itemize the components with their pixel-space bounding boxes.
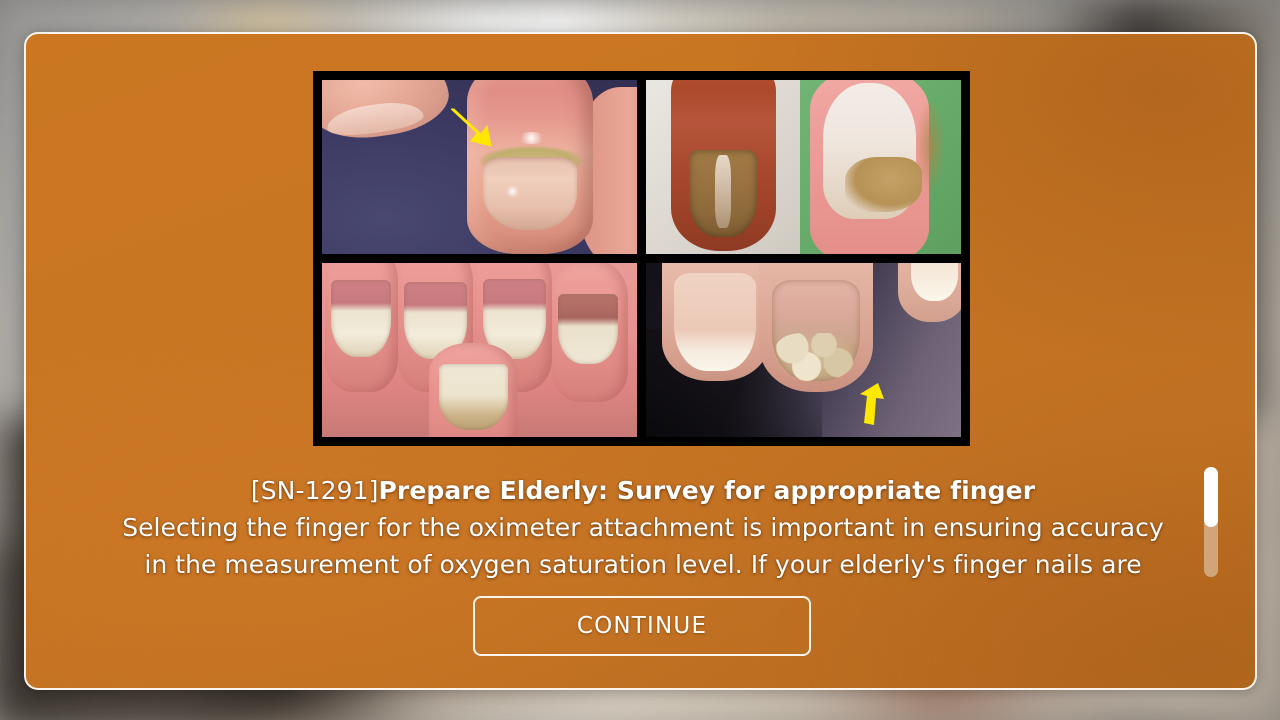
arrow-icon — [451, 104, 503, 148]
caption-scrollbar-thumb[interactable] — [1204, 467, 1218, 527]
nail-examples-image-grid — [313, 71, 970, 446]
caption-body-line-1: Selecting the finger for the oximeter at… — [104, 509, 1182, 546]
arrow-icon — [854, 381, 888, 427]
nail-example-image-top-left — [322, 80, 637, 254]
nail-example-image-bottom-left — [322, 263, 637, 437]
instruction-dialog-panel: [SN-1291]Prepare Elderly: Survey for app… — [24, 32, 1257, 690]
instruction-caption: [SN-1291]Prepare Elderly: Survey for app… — [104, 472, 1182, 582]
caption-scrollbar[interactable] — [1204, 467, 1218, 577]
caption-title-line: [SN-1291]Prepare Elderly: Survey for app… — [104, 472, 1182, 509]
nail-example-image-top-right — [646, 80, 961, 254]
step-number-tag: [SN-1291] — [251, 476, 379, 505]
caption-body-line-2: in the measurement of oxygen saturation … — [104, 546, 1182, 582]
nail-example-image-bottom-right — [646, 263, 961, 437]
app-root: [SN-1291]Prepare Elderly: Survey for app… — [0, 0, 1280, 720]
continue-button[interactable]: CONTINUE — [473, 596, 811, 656]
page-title: Prepare Elderly: Survey for appropriate … — [378, 476, 1035, 505]
